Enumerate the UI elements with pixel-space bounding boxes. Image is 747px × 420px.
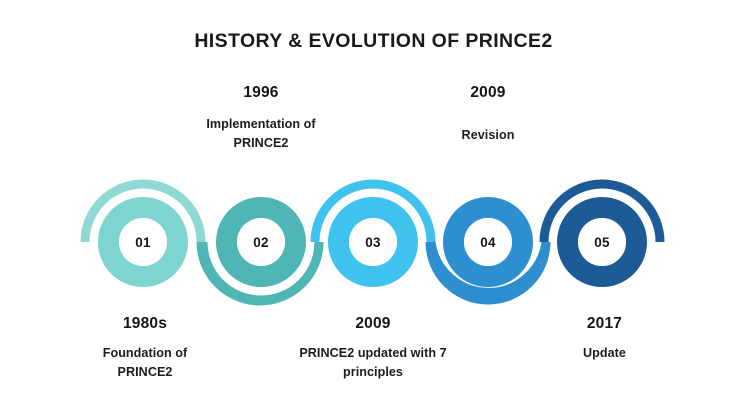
- label-bottom-2009-desc-line2: principles: [272, 363, 474, 381]
- label-bottom-1980s-desc-line2: PRINCE2: [50, 363, 240, 381]
- label-bottom-2009-year: 2009: [272, 313, 474, 335]
- label-bottom-2017-year: 2017: [522, 313, 687, 335]
- label-top-1996-year: 1996: [171, 82, 351, 104]
- label-bottom-2009-desc-line1: PRINCE2 updated with 7: [272, 344, 474, 362]
- label-bottom-1980s: 1980s Foundation of PRINCE2: [50, 313, 240, 381]
- label-bottom-2017: 2017 Update: [522, 313, 687, 363]
- label-top-2009-year: 2009: [398, 82, 578, 104]
- step-number-3: 03: [343, 235, 403, 250]
- step-number-5: 05: [572, 235, 632, 250]
- label-bottom-2017-desc-line1: Update: [522, 344, 687, 362]
- label-top-2009: 2009 Revision: [398, 82, 578, 145]
- step-number-2: 02: [231, 235, 291, 250]
- label-top-2009-desc-line1: Revision: [398, 126, 578, 144]
- step-number-1: 01: [113, 235, 173, 250]
- step-number-4: 04: [458, 235, 518, 250]
- label-bottom-2009: 2009 PRINCE2 updated with 7 principles: [272, 313, 474, 381]
- label-bottom-1980s-year: 1980s: [50, 313, 240, 335]
- infographic-canvas: HISTORY & EVOLUTION OF PRINCE2: [0, 0, 747, 420]
- label-top-1996-desc-line2: PRINCE2: [171, 134, 351, 152]
- label-top-1996: 1996 Implementation of PRINCE2: [171, 82, 351, 152]
- label-top-1996-desc-line1: Implementation of: [171, 115, 351, 133]
- label-bottom-1980s-desc-line1: Foundation of: [50, 344, 240, 362]
